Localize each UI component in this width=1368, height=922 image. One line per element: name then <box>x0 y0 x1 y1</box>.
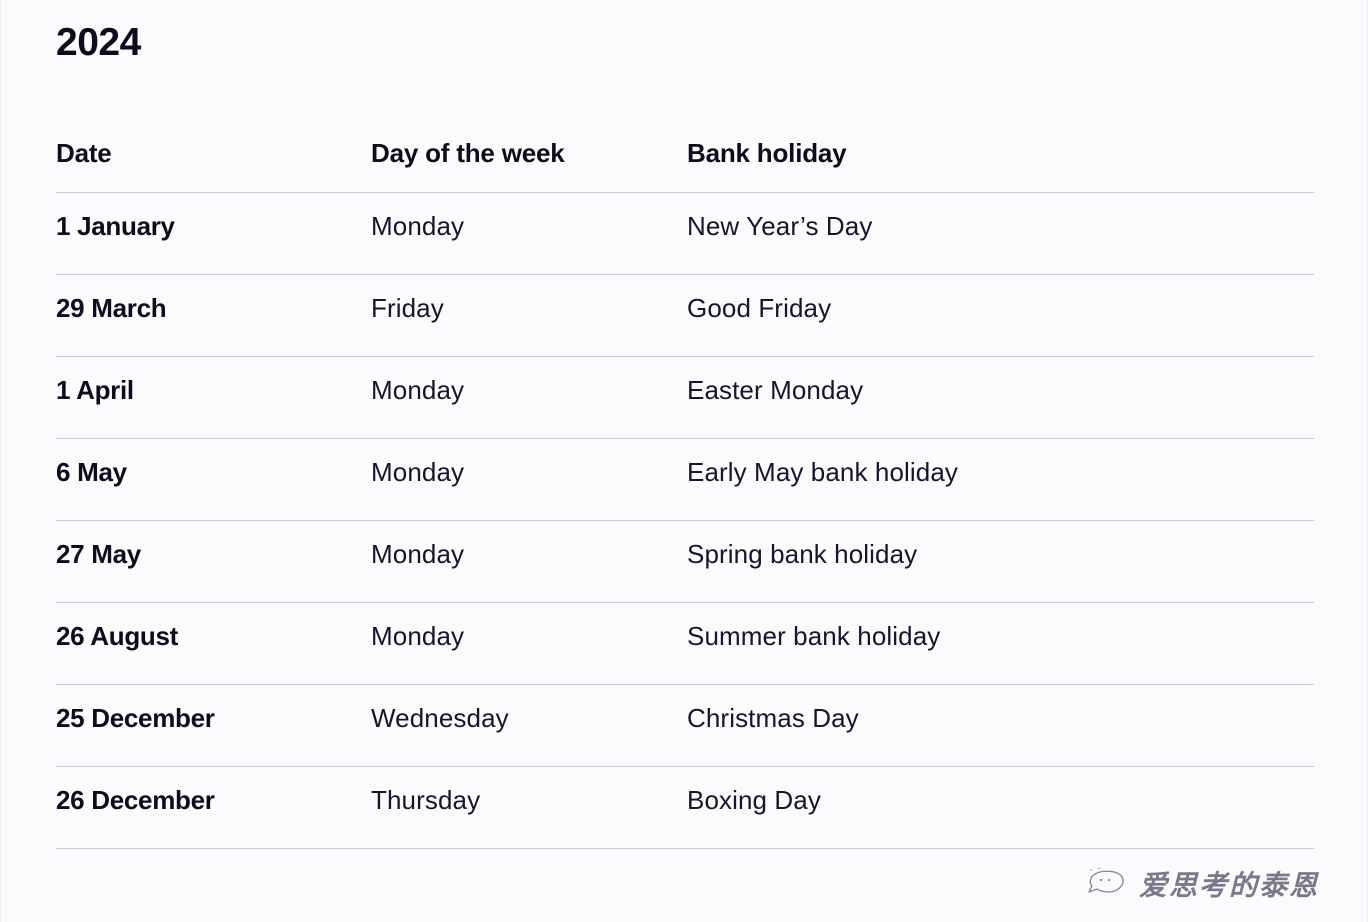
cell-date: 1 April <box>56 357 371 406</box>
cell-day: Monday <box>371 521 687 570</box>
table-row: 25 December Wednesday Christmas Day <box>56 685 1314 767</box>
watermark: 爱思考的泰恩 <box>1085 864 1319 904</box>
cell-holiday: Easter Monday <box>687 357 1314 406</box>
cell-date: 6 May <box>56 439 371 488</box>
table-row: 1 April Monday Easter Monday <box>56 357 1314 439</box>
table-header-row: Date Day of the week Bank holiday <box>56 124 1314 193</box>
cell-day: Monday <box>371 357 687 406</box>
speech-bubble-icon <box>1085 867 1129 901</box>
page-title: 2024 <box>56 22 141 65</box>
cell-holiday: Boxing Day <box>687 767 1314 816</box>
column-header-date: Date <box>56 124 371 169</box>
column-header-day-of-week: Day of the week <box>371 124 687 169</box>
table-row: 26 August Monday Summer bank holiday <box>56 603 1314 685</box>
column-header-bank-holiday: Bank holiday <box>687 124 1314 169</box>
cell-holiday: Early May bank holiday <box>687 439 1314 488</box>
table-row: 1 January Monday New Year’s Day <box>56 193 1314 275</box>
page-root: 2024 Date Day of the week Bank holiday 1… <box>0 0 1368 922</box>
cell-date: 1 January <box>56 193 371 242</box>
cell-date: 26 December <box>56 767 371 816</box>
cell-holiday: Good Friday <box>687 275 1314 324</box>
cell-holiday: New Year’s Day <box>687 193 1314 242</box>
cell-date: 26 August <box>56 603 371 652</box>
cell-day: Monday <box>371 193 687 242</box>
table-row: 26 December Thursday Boxing Day <box>56 767 1314 849</box>
cell-day: Thursday <box>371 767 687 816</box>
cell-holiday: Summer bank holiday <box>687 603 1314 652</box>
cell-day: Wednesday <box>371 685 687 734</box>
cell-date: 27 May <box>56 521 371 570</box>
watermark-text: 爱思考的泰恩 <box>1139 864 1319 904</box>
table-row: 6 May Monday Early May bank holiday <box>56 439 1314 521</box>
cell-day: Monday <box>371 439 687 488</box>
cell-date: 29 March <box>56 275 371 324</box>
table-row: 27 May Monday Spring bank holiday <box>56 521 1314 603</box>
table-row: 29 March Friday Good Friday <box>56 275 1314 357</box>
cell-holiday: Christmas Day <box>687 685 1314 734</box>
cell-date: 25 December <box>56 685 371 734</box>
bank-holidays-table: Date Day of the week Bank holiday 1 Janu… <box>56 124 1314 849</box>
cell-holiday: Spring bank holiday <box>687 521 1314 570</box>
cell-day: Monday <box>371 603 687 652</box>
cell-day: Friday <box>371 275 687 324</box>
